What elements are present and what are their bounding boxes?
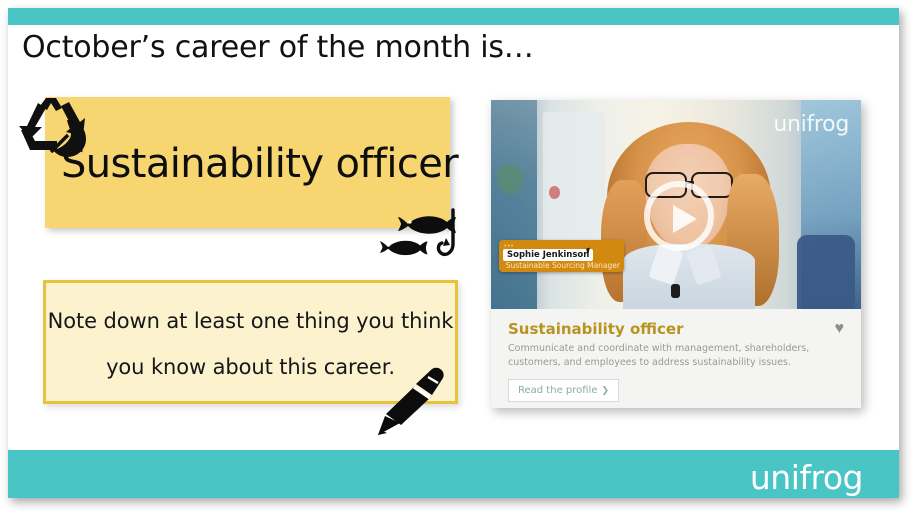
video-bg-chair [797,235,855,309]
career-profile-card[interactable]: unifrog ••• Sophie Jenkinson Sustainable… [491,100,861,408]
person-lapel-mic [671,284,680,298]
chevron-right-icon: ❯ [601,386,609,396]
note-line-1: Note down at least one thing you think [46,309,455,333]
page-title: October’s career of the month is… [22,30,534,65]
card-title: Sustainability officer [508,320,683,338]
pen-icon [376,363,450,437]
video-thumbnail[interactable]: unifrog ••• Sophie Jenkinson Sustainable… [491,100,861,309]
slide-canvas: October’s career of the month is… Sustai… [8,8,899,498]
read-the-profile-button[interactable]: Read the profile❯ [508,379,619,402]
slide-top-bar [8,8,899,25]
recycle-leaf-icon [16,92,92,164]
fish-hook-icon [380,208,462,264]
slide-bottom-bar: unifrog [8,450,899,498]
career-name-label: Sustainability officer [61,141,458,187]
speaker-name: Sophie Jenkinson [503,249,593,261]
play-triangle-icon [673,205,697,233]
speaker-role: Sustainable Sourcing Manager [506,261,620,270]
unifrog-watermark: unifrog [773,112,849,137]
video-bg-left-panel [491,100,537,309]
video-bg-red-object [549,186,560,199]
video-bg-plant [497,164,523,194]
speaker-nameplate: ••• Sophie Jenkinson Sustainable Sourcin… [499,240,624,272]
read-the-profile-label: Read the profile [518,385,597,396]
favourite-heart-icon[interactable]: ♥ [835,321,845,337]
play-button[interactable] [644,181,714,251]
card-body: Sustainability officer ♥ Communicate and… [491,309,861,408]
unifrog-logo: unifrog [750,458,863,497]
card-description: Communicate and coordinate with manageme… [508,342,838,370]
